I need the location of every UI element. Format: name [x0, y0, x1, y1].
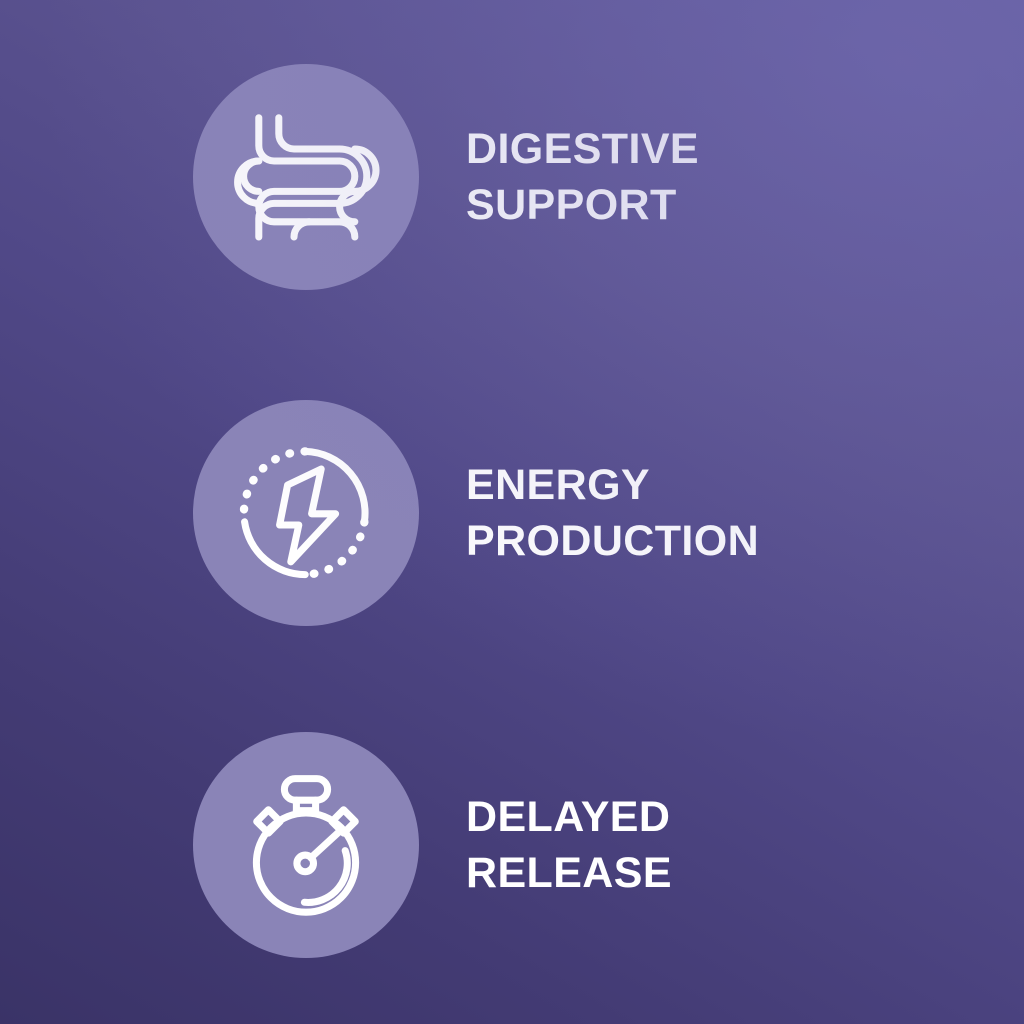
feature-label-line1: DIGESTIVE: [466, 122, 699, 177]
feature-row: ENERGY PRODUCTION: [0, 393, 1024, 633]
feature-label-digestive: DIGESTIVE SUPPORT: [466, 57, 699, 297]
icon-badge-digestive: [193, 64, 419, 290]
feature-label-energy: ENERGY PRODUCTION: [466, 393, 759, 633]
feature-label-line1: ENERGY: [466, 458, 759, 513]
feature-row: DELAYED RELEASE: [0, 725, 1024, 965]
feature-label-line1: DELAYED: [466, 790, 672, 845]
icon-badge-energy: [193, 400, 419, 626]
intestine-icon: [226, 97, 386, 257]
feature-label-line2: RELEASE: [466, 846, 672, 901]
feature-label-delayed-release: DELAYED RELEASE: [466, 725, 672, 965]
feature-label-line2: SUPPORT: [466, 178, 699, 233]
stopwatch-icon: [226, 765, 386, 925]
feature-label-line2: PRODUCTION: [466, 514, 759, 569]
lightning-bolt-icon: [226, 433, 386, 593]
feature-row: DIGESTIVE SUPPORT: [0, 57, 1024, 297]
benefits-graphic: DIGESTIVE SUPPORT ENERGY PRODUCTION: [0, 0, 1024, 1024]
icon-badge-delayed-release: [193, 732, 419, 958]
